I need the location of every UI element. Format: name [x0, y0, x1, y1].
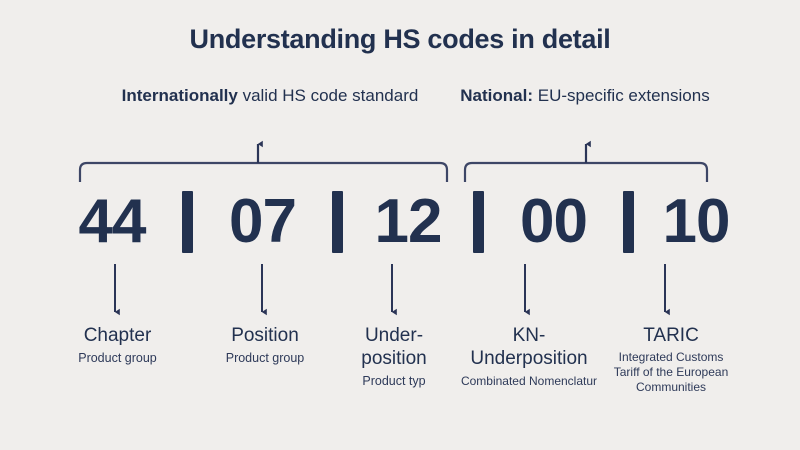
- label-block-chapter: Chapter Product group: [55, 324, 180, 366]
- group-caption-international-rest: valid HS code standard: [238, 86, 419, 105]
- code-segment-chapter: 44: [60, 186, 164, 258]
- diagram-canvas: Understanding HS codes in detail Interna…: [0, 0, 800, 450]
- code-segment-taric: 10: [652, 186, 740, 258]
- label-subtitle-chapter: Product group: [55, 350, 180, 366]
- label-subtitle-kn-underposition: Combinated Nomenclatur: [448, 373, 610, 389]
- group-caption-international: Internationally valid HS code standard: [110, 83, 430, 108]
- label-title-position: Position: [205, 324, 325, 347]
- label-title-taric: TARIC: [610, 324, 732, 347]
- bracket-national: [465, 163, 707, 182]
- label-title-chapter: Chapter: [55, 324, 180, 347]
- label-title-underposition: Under- position: [340, 324, 448, 370]
- code-separator-3: [473, 191, 484, 253]
- group-caption-national: National: EU-specific extensions: [455, 83, 715, 108]
- label-block-kn-underposition: KN- Underposition Combinated Nomenclatur: [448, 324, 610, 389]
- group-caption-national-rest: EU-specific extensions: [533, 86, 710, 105]
- bracket-international: [80, 163, 447, 182]
- code-segment-underposition: 12: [361, 186, 455, 258]
- group-caption-national-strong: National:: [460, 86, 533, 105]
- hs-code-row: 44 07 12 00 10: [60, 186, 740, 258]
- page-title: Understanding HS codes in detail: [0, 24, 800, 55]
- label-block-taric: TARIC Integrated Customs Tariff of the E…: [610, 324, 732, 395]
- label-title-kn-underposition: KN- Underposition: [448, 324, 610, 370]
- code-segment-kn-underposition: 00: [502, 186, 606, 258]
- code-separator-4: [623, 191, 634, 253]
- label-subtitle-position: Product group: [205, 350, 325, 366]
- code-separator-2: [332, 191, 343, 253]
- group-caption-international-strong: Internationally: [122, 86, 238, 105]
- code-separator-1: [182, 191, 193, 253]
- label-block-underposition: Under- position Product typ: [340, 324, 448, 389]
- code-segment-position: 07: [211, 186, 315, 258]
- label-subtitle-underposition: Product typ: [340, 373, 448, 389]
- label-subtitle-taric: Integrated Customs Tariff of the Europea…: [610, 350, 732, 395]
- label-block-position: Position Product group: [205, 324, 325, 366]
